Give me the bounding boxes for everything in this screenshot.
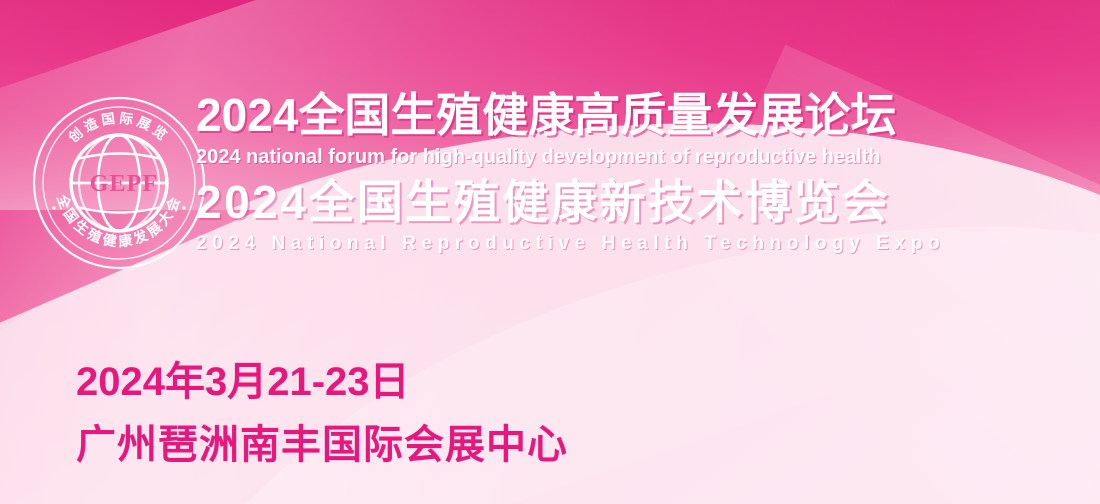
event-date: 2024年3月21-23日 <box>76 358 568 406</box>
title-block: 2024全国生殖健康高质量发展论坛 2024 national forum fo… <box>196 88 1076 257</box>
logo-center-text: GEPF <box>90 171 159 197</box>
expo-title-en: 2024 National Reproductive Health Techno… <box>196 231 1076 257</box>
event-venue: 广州琶洲南丰国际会展中心 <box>76 420 568 470</box>
forum-title-cn: 2024全国生殖健康高质量发展论坛 <box>196 88 1076 142</box>
logo-arc-top-text: 创造国际展览 <box>64 111 173 146</box>
event-banner: GEPF 创造国际展览 全国生殖健康发展大会 2024全国生殖健康高质量发展论坛… <box>0 0 1100 504</box>
forum-title-en: 2024 national forum for high-quality dev… <box>196 144 1076 170</box>
gepf-logo: GEPF 创造国际展览 全国生殖健康发展大会 <box>32 96 206 270</box>
event-info-block: 2024年3月21-23日 广州琶洲南丰国际会展中心 <box>76 358 568 470</box>
expo-title-cn: 2024全国生殖健康新技术博览会 <box>196 174 1076 230</box>
